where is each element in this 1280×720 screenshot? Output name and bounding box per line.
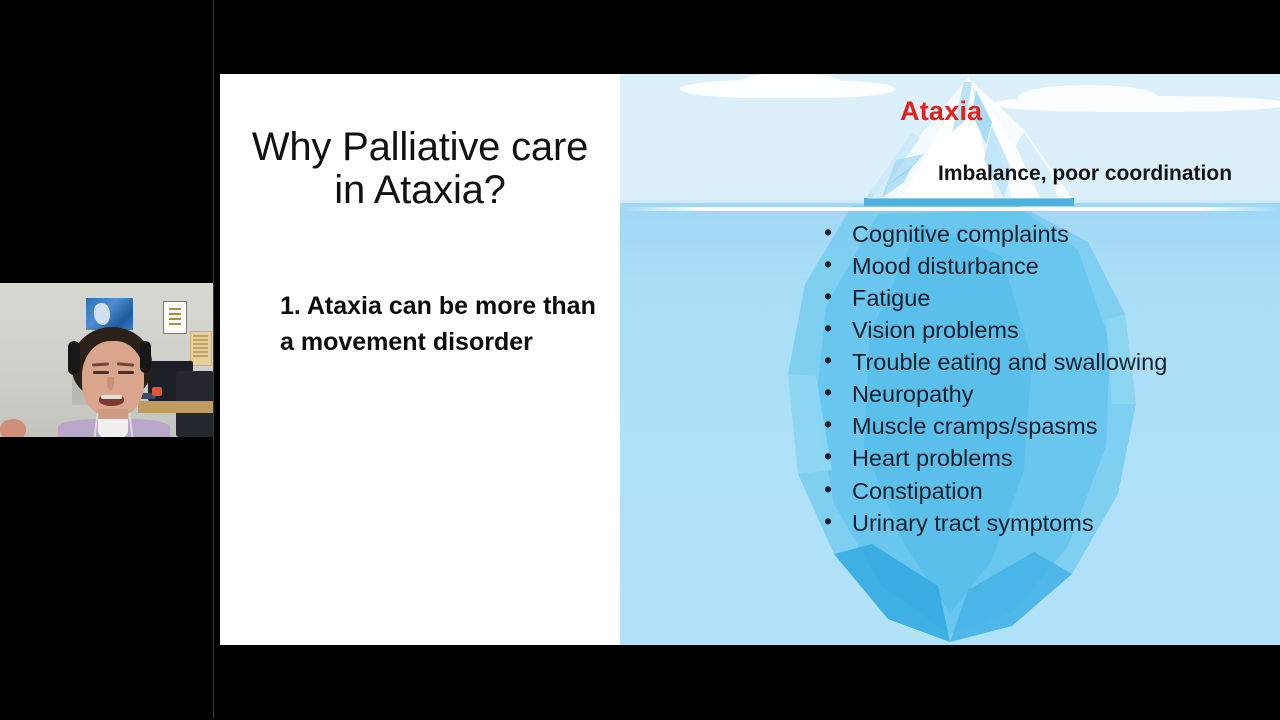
headset-right-cup	[140, 341, 151, 373]
wall-art-icon	[86, 298, 133, 330]
eye-left	[93, 371, 109, 374]
list-item: Cognitive complaints	[816, 218, 1276, 250]
symptom-list: Cognitive complaints Mood disturbance Fa…	[816, 218, 1276, 539]
webcam-thumbnail[interactable]	[0, 283, 213, 437]
desk-item-cup	[152, 387, 162, 396]
eye-right	[118, 371, 134, 374]
list-item: Urinary tract symptoms	[816, 507, 1276, 539]
iceberg-graphic: Ataxia Imbalance, poor coordination Cogn…	[620, 74, 1280, 645]
list-item: Trouble eating and swallowing	[816, 346, 1276, 378]
framed-picture-icon	[163, 301, 187, 334]
participant-strip	[0, 0, 214, 718]
headset-icon	[68, 341, 80, 375]
shirt-collar	[98, 419, 128, 437]
presenter-hand	[0, 419, 26, 437]
list-item: Constipation	[816, 475, 1276, 507]
shared-slide[interactable]: Why Palliative care in Ataxia? 1. Ataxia…	[220, 74, 1280, 645]
list-item: Fatigue	[816, 282, 1276, 314]
list-item: Heart problems	[816, 442, 1276, 474]
desk	[138, 401, 213, 413]
meeting-screen: Why Palliative care in Ataxia? 1. Ataxia…	[0, 0, 1280, 720]
wall-calendar-icon	[190, 331, 212, 366]
list-item: Neuropathy	[816, 378, 1276, 410]
slide-point-1: 1. Ataxia can be more than a movement di…	[280, 289, 600, 360]
slide-text-panel: Why Palliative care in Ataxia? 1. Ataxia…	[220, 74, 620, 645]
page-title: Why Palliative care in Ataxia?	[240, 126, 600, 212]
list-item: Muscle cramps/spasms	[816, 410, 1276, 442]
list-item: Vision problems	[816, 314, 1276, 346]
list-item: Mood disturbance	[816, 250, 1276, 282]
teeth	[101, 395, 122, 399]
waterline-foam	[620, 207, 1280, 211]
iceberg-label-ataxia: Ataxia	[900, 96, 982, 127]
iceberg-subtitle: Imbalance, poor coordination	[938, 162, 1232, 186]
nose	[107, 377, 114, 390]
